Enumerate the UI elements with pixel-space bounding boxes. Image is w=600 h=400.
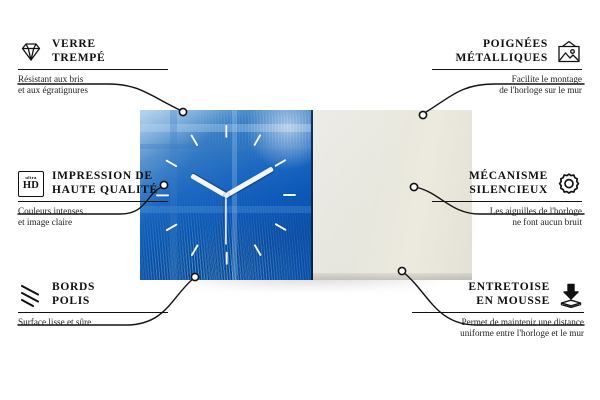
clock-second-hand bbox=[225, 195, 227, 245]
feature-subtitle-line2: ne font aucun bruit bbox=[432, 217, 582, 228]
feature-header: POIGNÉES MÉTALLIQUES bbox=[432, 38, 582, 65]
clock-tick bbox=[190, 134, 199, 146]
feature-title: POIGNÉES MÉTALLIQUES bbox=[456, 38, 548, 65]
clock-tick bbox=[225, 125, 227, 138]
gear-icon bbox=[556, 171, 582, 197]
feature-title: MÉCANISME SILENCIEUX bbox=[469, 170, 548, 197]
foam-spacer-icon bbox=[558, 282, 584, 308]
clock-tick bbox=[165, 159, 177, 168]
feature-title: IMPRESSION DE HAUTE QUALITÉ bbox=[52, 170, 158, 197]
feature-subtitle-line1: Surface lisse et sûre bbox=[18, 317, 168, 328]
feature-subtitle-line2: uniforme entre l'horloge et le mur bbox=[412, 328, 584, 339]
clock-center-cap bbox=[224, 193, 229, 198]
feature-entretoise-en-mousse: ENTRETOISE EN MOUSSE Permet de maintenir… bbox=[412, 281, 584, 339]
clock-tick bbox=[275, 222, 287, 231]
polished-edges-icon bbox=[18, 282, 44, 308]
feature-mecanisme-silencieux: MÉCANISME SILENCIEUX Les aiguilles de l'… bbox=[432, 170, 582, 228]
divider bbox=[18, 69, 168, 70]
feature-subtitle-line1: Résistant aux bris bbox=[18, 74, 168, 85]
divider bbox=[18, 312, 168, 313]
feature-impression-haute-qualite: ultra HD IMPRESSION DE HAUTE QUALITÉ Cou… bbox=[18, 170, 168, 228]
feature-title: ENTRETOISE EN MOUSSE bbox=[468, 281, 550, 308]
print-grid-band bbox=[170, 110, 177, 280]
product-photo bbox=[138, 108, 472, 280]
feature-title: BORDS POLIS bbox=[52, 281, 95, 308]
infographic-canvas: VERRE TREMPÉ Résistant aux bris et aux é… bbox=[0, 0, 600, 400]
divider bbox=[432, 69, 582, 70]
feature-subtitle-line1: Facilite le montage bbox=[432, 74, 582, 85]
feature-title: VERRE TREMPÉ bbox=[52, 38, 105, 65]
print-grid-band bbox=[232, 110, 237, 280]
badge-text-hd: HD bbox=[23, 181, 39, 192]
feature-subtitle-line2: et image claire bbox=[18, 217, 168, 228]
clock-tick bbox=[253, 244, 262, 256]
divider bbox=[412, 312, 584, 313]
feature-subtitle-line1: Couleurs intenses bbox=[18, 206, 168, 217]
feature-subtitle-line1: Permet de maintenir une distance bbox=[412, 317, 584, 328]
feature-poignees-metalliques: POIGNÉES MÉTALLIQUES Facilite le montage… bbox=[432, 38, 582, 96]
feature-header: VERRE TREMPÉ bbox=[18, 38, 168, 65]
feature-header: BORDS POLIS bbox=[18, 281, 168, 308]
panel-bottom-edge bbox=[313, 273, 472, 280]
feature-bords-polis: BORDS POLIS Surface lisse et sûre bbox=[18, 281, 168, 328]
divider bbox=[432, 201, 582, 202]
diamond-icon bbox=[18, 39, 44, 65]
feature-header: ultra HD IMPRESSION DE HAUTE QUALITÉ bbox=[18, 170, 168, 197]
feature-subtitle-line1: Les aiguilles de l'horloge bbox=[432, 206, 582, 217]
feature-verre-trempe: VERRE TREMPÉ Résistant aux bris et aux é… bbox=[18, 38, 168, 96]
ultra-hd-badge-icon: ultra HD bbox=[18, 171, 44, 197]
clock-tick bbox=[225, 252, 227, 265]
divider bbox=[18, 201, 168, 202]
feature-subtitle-line2: et aux égratignures bbox=[18, 85, 168, 96]
clock-hour-hand bbox=[190, 173, 227, 197]
feature-header: ENTRETOISE EN MOUSSE bbox=[412, 281, 584, 308]
picture-hanger-icon bbox=[556, 39, 582, 65]
feature-header: MÉCANISME SILENCIEUX bbox=[432, 170, 582, 197]
clock-tick bbox=[283, 194, 296, 196]
feature-subtitle-line2: de l'horloge sur le mur bbox=[432, 85, 582, 96]
clock-tick bbox=[190, 244, 199, 256]
